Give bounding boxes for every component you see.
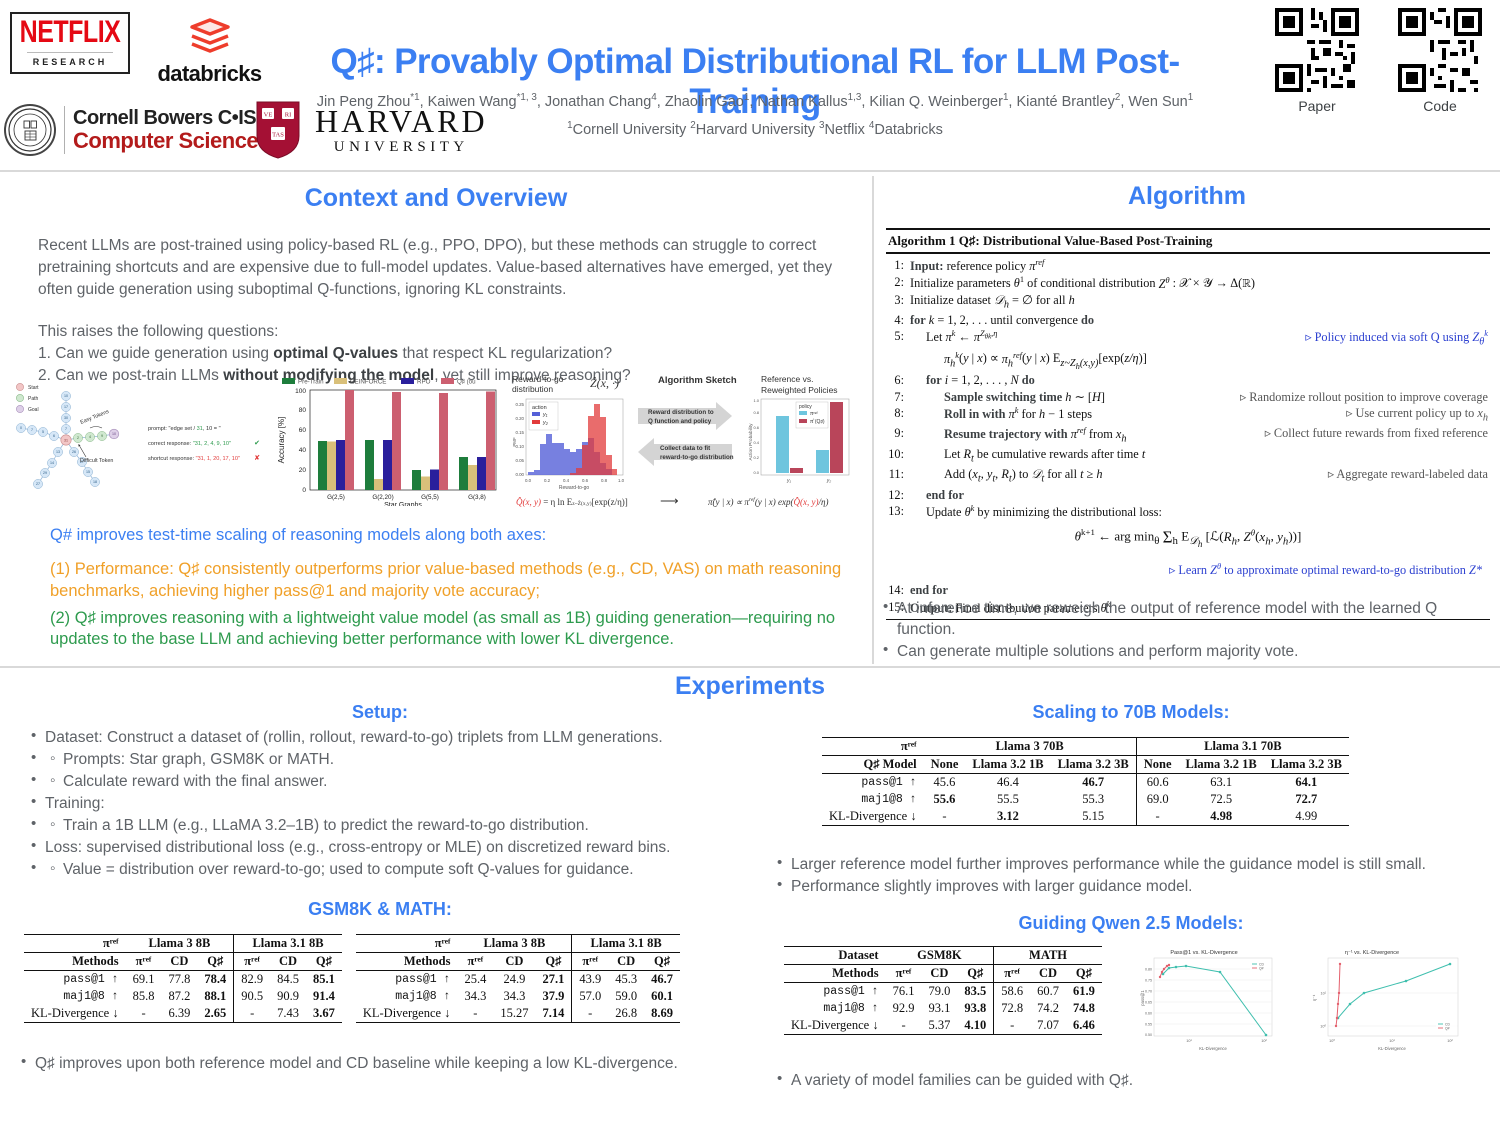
- col-header: πʳᵉᶠ: [994, 965, 1030, 983]
- cornell-bowers-label: Cornell Bowers C•IS: [73, 108, 258, 129]
- table-corner-header: πʳᵉᶠ: [356, 934, 458, 952]
- methods-header: Methods: [24, 952, 126, 970]
- poster-root: NETFLIX RESEARCH databricks: [0, 0, 1500, 1125]
- gsm8k-math-bullets: Q♯ improves upon both reference model an…: [18, 1053, 748, 1074]
- svg-text:2: 2: [77, 436, 79, 440]
- star-graph-accuracy-chart: Pre-Train REINFORCE RPO Q♯ (ou 02040 608…: [270, 374, 505, 506]
- cornell-wordmark: Cornell Bowers C•IS Computer Science: [73, 108, 258, 152]
- methods-header: Methods: [356, 952, 458, 970]
- svg-text:1.0: 1.0: [618, 478, 625, 483]
- col-header: CD: [608, 952, 644, 970]
- svg-text:Algorithm Sketch: Algorithm Sketch: [658, 375, 737, 386]
- algorithm-box: Algorithm 1 Q♯: Distributional Value-Bas…: [886, 228, 1490, 620]
- col-header: Q♯: [1066, 965, 1102, 983]
- svg-text:0.05: 0.05: [515, 458, 524, 463]
- algorithm-equation: θk+1 ← arg minθ Σh E𝒟h [ℒ(Rh, Zθ(xh, yh)…: [886, 520, 1490, 554]
- list-item: ◦Value = distribution over reward-to-go;…: [28, 859, 748, 880]
- methods-header: Methods: [784, 965, 886, 983]
- svg-text:10: 10: [64, 394, 68, 398]
- svg-text:Q#: Q#: [1445, 1026, 1450, 1030]
- table-row: KL-Divergence ↓ - 6.39 2.65 - 7.43 3.67: [24, 1005, 342, 1023]
- algorithm-equation-note: ▹ Learn Zθ to approximate optimal reward…: [886, 554, 1490, 582]
- svg-text:Q♯ (ou: Q♯ (ou: [457, 378, 476, 385]
- svg-text:0.4: 0.4: [563, 478, 570, 483]
- svg-text:y₁: y₁: [542, 412, 548, 418]
- svg-text:y₁: y₁: [786, 478, 792, 484]
- svg-text:PMF: PMF: [512, 437, 517, 447]
- qr-paper-block[interactable]: Paper: [1275, 8, 1359, 114]
- table-row: KL-Divergence ↓ - 5.37 4.10 - 7.07 6.46: [784, 1017, 1102, 1035]
- experiments-heading: Experiments: [0, 672, 1500, 701]
- affiliation-list: 1Cornell University 2Harvard University …: [255, 120, 1255, 138]
- qr-code-icon[interactable]: [1398, 8, 1482, 92]
- svg-text:Star Graphs: Star Graphs: [384, 502, 422, 506]
- svg-text:6: 6: [53, 434, 55, 438]
- qwen-table: Dataset GSM8K MATH Methods πʳᵉᶠ CD Q♯ πʳ…: [784, 946, 1102, 1035]
- col-header: CD: [1030, 965, 1066, 983]
- list-item: Can generate multiple solutions and perf…: [880, 641, 1494, 662]
- shortcut-response-text: shortcut response: "31, 1, 20, 17, 10": [148, 456, 240, 462]
- svg-text:0.25: 0.25: [515, 402, 524, 407]
- scaling-70b-heading: Scaling to 70B Models:: [762, 702, 1500, 723]
- difficult-token-label: Difficult Token: [80, 458, 113, 464]
- svg-text:0.20: 0.20: [515, 416, 524, 421]
- svg-text:reward-to-go distribution: reward-to-go distribution: [660, 454, 734, 461]
- svg-text:Reward-to-go: Reward-to-go: [559, 485, 590, 491]
- scaling-70b-table: πʳᵉᶠ Llama 3 70B Llama 3.1 70B Q♯ Model …: [822, 737, 1349, 826]
- svg-text:10¹: 10¹: [1186, 1039, 1192, 1043]
- algorithm-lines: 1:Input: reference policy πref 2:Initial…: [886, 254, 1490, 619]
- col-header: None: [924, 756, 966, 774]
- svg-text:Start: Start: [28, 385, 39, 391]
- setup-list: Dataset: Construct a dataset of (rollin,…: [28, 727, 748, 881]
- svg-text:30: 30: [64, 416, 68, 420]
- svg-text:policy: policy: [799, 404, 812, 410]
- col-header: πʳᵉᶠ: [234, 952, 270, 970]
- svg-text:5: 5: [42, 430, 44, 434]
- svg-text:0.4: 0.4: [753, 440, 759, 445]
- svg-text:Q#: Q#: [1259, 966, 1264, 970]
- svg-text:18: 18: [93, 480, 97, 484]
- qwen-bullets: A variety of model families can be guide…: [774, 1070, 1488, 1091]
- algorithm-section: Algorithm Algorithm 1 Q♯: Distributional…: [874, 174, 1500, 666]
- svg-text:η⁻¹: η⁻¹: [1312, 994, 1317, 1001]
- gsm8k-math-heading: GSM8K & MATH:: [0, 899, 760, 920]
- col-header: πʳᵉᶠ: [572, 952, 608, 970]
- gsm8k-table: πʳᵉᶠ Llama 3 8B Llama 3.1 8B Methods πʳᵉ…: [24, 934, 342, 1023]
- overview-figure-row: Start Path Goal 31 7 30 17: [8, 374, 872, 519]
- svg-text:G(5,5): G(5,5): [421, 494, 439, 501]
- algorithm-box-title: Algorithm 1 Q♯: Distributional Value-Bas…: [886, 230, 1490, 252]
- qr-paper-icon[interactable]: [1275, 8, 1359, 92]
- svg-text:1.0: 1.0: [753, 398, 759, 403]
- easy-tokens-label: Easy Tokens: [80, 409, 111, 426]
- correct-check-icon: ✔: [254, 440, 260, 447]
- table-group-header: Llama 3.1 8B: [234, 934, 342, 952]
- cornell-seal-icon: [4, 104, 56, 156]
- svg-text:Q̂(x, y) = η ln Ez~Ẑ(x,y)[exp(: Q̂(x, y) = η ln Ez~Ẑ(x,y)[exp(z/η)]: [516, 496, 628, 507]
- context-section: Context and Overview Recent LLMs are pos…: [0, 174, 872, 666]
- svg-text:9: 9: [101, 434, 103, 438]
- svg-text:0.80: 0.80: [1145, 968, 1152, 972]
- svg-text:10²: 10²: [1447, 1039, 1453, 1043]
- list-item: Performance slightly improves with large…: [774, 876, 1488, 897]
- svg-text:17: 17: [64, 405, 68, 409]
- databricks-mark-icon: [188, 18, 232, 58]
- list-item: Loss: supervised distributional loss (e.…: [28, 837, 748, 858]
- experiments-left-column: Setup: Dataset: Construct a dataset of (…: [0, 702, 760, 1075]
- poster-title: Q♯: Provably Optimal Distributional RL f…: [265, 42, 1245, 122]
- scaling-70b-table-wrap: πʳᵉᶠ Llama 3 70B Llama 3.1 70B Q♯ Model …: [762, 737, 1500, 826]
- claim-lightweight: (2) Q♯ improves reasoning with a lightwe…: [50, 608, 870, 652]
- table-group-header: Llama 3 8B: [457, 934, 571, 952]
- experiments-right-column: Scaling to 70B Models: πʳᵉᶠ Llama 3 70B …: [762, 702, 1500, 1092]
- svg-text:10⁰: 10⁰: [1329, 1039, 1335, 1043]
- svg-text:Reward distribution to: Reward distribution to: [648, 409, 714, 416]
- qr-code-block[interactable]: Code: [1398, 8, 1482, 114]
- svg-text:10¹: 10¹: [1320, 992, 1326, 996]
- svg-text:10²: 10²: [1261, 1039, 1267, 1043]
- col-header: Q♯: [957, 965, 993, 983]
- svg-text:40: 40: [299, 447, 307, 454]
- experiments-divider: [0, 666, 1500, 668]
- svg-text:31: 31: [64, 438, 68, 442]
- claim-performance: (1) Performance: Q♯ consistently outperf…: [50, 559, 870, 603]
- shortcut-cross-icon: ✘: [254, 454, 260, 462]
- col-header: Q♯: [306, 952, 342, 970]
- harvard-university-label: UNIVERSITY: [315, 140, 488, 155]
- table-group-header: Llama 3.1 8B: [572, 934, 680, 952]
- list-item: Training:: [28, 793, 748, 814]
- list-item: ◦Calculate reward with the final answer.: [28, 771, 748, 792]
- col-header: Llama 3.2 3B: [1264, 756, 1349, 774]
- claim-heading: Q# improves test-time scaling of reasoni…: [50, 526, 870, 545]
- svg-text:π̂(y | x) ∝ πref(y | x) exp(Q̂: π̂(y | x) ∝ πref(y | x) exp(Q̂(x, y)/η): [708, 496, 828, 507]
- svg-text:⟶: ⟶: [660, 493, 679, 508]
- svg-text:Ẑ(x, ·): Ẑ(x, ·): [590, 376, 619, 390]
- table-row: maj1@8 ↑ 85.8 87.2 88.1 90.5 90.9 91.4: [24, 988, 342, 1005]
- svg-text:G(3,8): G(3,8): [468, 494, 486, 501]
- col-header: Llama 3.2 1B: [965, 756, 1050, 774]
- netflix-wordmark: NETFLIX: [20, 16, 121, 47]
- svg-text:0.6: 0.6: [582, 478, 589, 483]
- svg-text:G(2,5): G(2,5): [327, 494, 345, 501]
- svg-text:Reward-to-go: Reward-to-go: [512, 374, 564, 384]
- svg-text:G(2,20): G(2,20): [372, 494, 393, 501]
- svg-text:η⁻¹ vs. KL-Divergence: η⁻¹ vs. KL-Divergence: [1345, 950, 1399, 956]
- svg-text:y₂: y₂: [542, 420, 549, 426]
- databricks-wordmark: databricks: [152, 61, 267, 87]
- svg-text:action: action: [532, 405, 547, 411]
- svg-text:REINFORCE: REINFORCE: [350, 378, 386, 385]
- question-1: 1. Can we guide generation using optimal…: [38, 343, 872, 365]
- list-item: Dataset: Construct a dataset of (rollin,…: [28, 727, 748, 748]
- list-item: A variety of model families can be guide…: [774, 1070, 1488, 1091]
- list-item: At inference time, we reweigh the output…: [880, 598, 1494, 640]
- table-row: maj1@8 ↑ 34.3 34.3 37.9 57.0 59.0 60.1: [356, 988, 680, 1005]
- svg-text:7: 7: [65, 427, 67, 431]
- gsm8k-math-tables: πʳᵉᶠ Llama 3 8B Llama 3.1 8B Methods πʳᵉ…: [0, 934, 760, 1023]
- svg-text:Goal: Goal: [28, 407, 39, 413]
- qwen-heading: Guiding Qwen 2.5 Models:: [762, 913, 1500, 934]
- col-header: CD: [921, 965, 957, 983]
- svg-text:29: 29: [43, 471, 47, 475]
- table-row: pass@1 ↑ 45.6 46.4 46.7 60.6 63.1 64.1: [822, 774, 1349, 792]
- svg-text:RPO: RPO: [417, 378, 431, 385]
- context-paragraph: Recent LLMs are post-trained using polic…: [38, 235, 834, 301]
- svg-text:Pass@1 vs. KL-Divergence: Pass@1 vs. KL-Divergence: [1170, 950, 1237, 956]
- cornell-logo-divider: [64, 106, 65, 154]
- svg-text:πʳᵉᶠ: πʳᵉᶠ: [810, 411, 819, 417]
- svg-text:0: 0: [20, 426, 22, 430]
- svg-text:80: 80: [299, 407, 307, 414]
- svg-text:Reweighted Policies: Reweighted Policies: [761, 385, 838, 395]
- table-group-header: Llama 3 8B: [126, 934, 234, 952]
- col-header: πʳᵉᶠ: [886, 965, 922, 983]
- poster-header: NETFLIX RESEARCH databricks: [0, 0, 1500, 172]
- svg-text:0.65: 0.65: [1145, 1001, 1152, 1005]
- svg-text:0.50: 0.50: [1145, 1033, 1152, 1037]
- svg-text:y₂: y₂: [826, 478, 832, 484]
- svg-text:pass@1: pass@1: [1140, 990, 1145, 1006]
- svg-text:distribution: distribution: [512, 384, 553, 394]
- svg-text:0.60: 0.60: [1145, 1012, 1152, 1016]
- table-row: pass@1 ↑ 25.4 24.9 27.1 43.9 45.3 46.7: [356, 970, 680, 988]
- svg-text:π̂ (Q♯): π̂ (Q♯): [810, 419, 825, 425]
- svg-text:15: 15: [86, 470, 90, 474]
- table-row: KL-Divergence ↓ - 15.27 7.14 - 26.8 8.69: [356, 1005, 680, 1023]
- math-table: πʳᵉᶠ Llama 3 8B Llama 3.1 8B Methods πʳᵉ…: [356, 934, 680, 1023]
- qwen-content-row: Dataset GSM8K MATH Methods πʳᵉᶠ CD Q♯ πʳ…: [762, 946, 1500, 1054]
- svg-text:Accuracy [%]: Accuracy [%]: [277, 417, 286, 464]
- table-corner-header: πʳᵉᶠ: [24, 934, 126, 952]
- model-header: Q♯ Model: [822, 756, 924, 774]
- svg-text:0.6: 0.6: [753, 425, 759, 430]
- svg-text:Collect data to fit: Collect data to fit: [660, 445, 710, 452]
- setup-heading: Setup:: [0, 702, 760, 723]
- svg-text:KL-Divergence: KL-Divergence: [1199, 1046, 1227, 1051]
- col-header: Q♯: [644, 952, 680, 970]
- svg-text:14: 14: [50, 461, 54, 465]
- list-item: ◦Train a 1B LLM (e.g., LLaMA 3.2–1B) to …: [28, 815, 748, 836]
- svg-text:0.2: 0.2: [753, 455, 759, 460]
- svg-text:0.0: 0.0: [525, 478, 532, 483]
- svg-text:Path: Path: [28, 396, 39, 402]
- table-row: maj1@8 ↑ 55.6 55.5 55.3 69.0 72.5 72.7: [822, 791, 1349, 808]
- col-header: Llama 3.2 1B: [1179, 756, 1264, 774]
- svg-text:0.70: 0.70: [1145, 990, 1152, 994]
- col-header: CD: [493, 952, 535, 970]
- qwen-tradeoff-plots: Pass@1 vs. KL-Divergence 0.800.750.70 0.…: [1116, 946, 1476, 1054]
- qr-code-label: Code: [1423, 98, 1456, 114]
- col-header: πʳᵉᶠ: [457, 952, 493, 970]
- svg-text:Action Probability: Action Probability: [748, 423, 754, 461]
- svg-text:KL-Divergence: KL-Divergence: [1378, 1046, 1406, 1051]
- svg-text:100: 100: [295, 388, 306, 395]
- context-heading: Context and Overview: [0, 184, 872, 213]
- svg-text:20: 20: [299, 467, 307, 474]
- table-group-header: MATH: [994, 947, 1102, 965]
- svg-text:26: 26: [72, 450, 76, 454]
- table-row: pass@1 ↑ 69.1 77.8 78.4 82.9 84.5 85.1: [24, 970, 342, 988]
- list-item: Q♯ improves upon both reference model an…: [18, 1053, 748, 1074]
- algorithm-heading: Algorithm: [874, 182, 1500, 211]
- svg-text:0.2: 0.2: [544, 478, 551, 483]
- svg-text:0.15: 0.15: [515, 430, 524, 435]
- netflix-research-label: RESEARCH: [33, 57, 108, 67]
- qr-paper-label: Paper: [1298, 98, 1335, 114]
- prompt-text: prompt: "edge set / 31, 10 = ": [148, 426, 221, 432]
- svg-text:27: 27: [36, 482, 40, 486]
- col-header: None: [1136, 756, 1178, 774]
- col-header: CD: [161, 952, 197, 970]
- svg-text:13: 13: [56, 450, 60, 454]
- col-header: CD: [270, 952, 306, 970]
- table-row: maj1@8 ↑ 92.9 93.1 93.8 72.8 74.2 74.8: [784, 1000, 1102, 1017]
- table-group-header: Llama 3.1 70B: [1136, 738, 1349, 756]
- algorithm-sketch-figure: Reward-to-godistribution Ẑ(x, ·) Algorit…: [508, 372, 878, 512]
- netflix-research-logo: NETFLIX RESEARCH: [10, 12, 130, 74]
- svg-text:4: 4: [89, 435, 91, 439]
- table-group-header: Llama 3 70B: [924, 738, 1137, 756]
- table-row: pass@1 ↑ 76.1 79.0 83.5 58.6 60.7 61.9: [784, 983, 1102, 1001]
- cornell-cs-label: Computer Science: [73, 129, 258, 152]
- svg-text:0.00: 0.00: [515, 472, 524, 477]
- netflix-divider: [27, 52, 113, 53]
- star-graph-figure: Start Path Goal 31 7 30 17: [8, 374, 270, 504]
- list-item: Larger reference model further improves …: [774, 854, 1488, 875]
- cornell-logo: Cornell Bowers C•IS Computer Science: [4, 104, 258, 156]
- svg-text:10: 10: [112, 432, 116, 436]
- questions-lead: This raises the following questions:: [38, 321, 872, 343]
- table-group-header: GSM8K: [886, 947, 994, 965]
- databricks-logo: databricks: [152, 18, 267, 87]
- svg-text:0.8: 0.8: [753, 410, 759, 415]
- svg-text:10⁰: 10⁰: [1320, 1025, 1326, 1029]
- svg-text:Pre-Train: Pre-Train: [298, 378, 324, 385]
- table-row: KL-Divergence ↓ - 3.12 5.15 - 4.98 4.99: [822, 808, 1349, 826]
- svg-text:0.0: 0.0: [753, 470, 759, 475]
- svg-text:0: 0: [302, 487, 306, 494]
- svg-text:0.8: 0.8: [601, 478, 608, 483]
- col-header: Q♯: [535, 952, 571, 970]
- col-header: Llama 3.2 3B: [1051, 756, 1137, 774]
- col-header: πʳᵉᶠ: [126, 952, 162, 970]
- table-corner-header: Dataset: [784, 947, 886, 965]
- svg-text:60: 60: [299, 427, 307, 434]
- scaling-70b-bullets: Larger reference model further improves …: [774, 854, 1488, 897]
- algorithm-bullets: At inference time, we reweigh the output…: [880, 598, 1494, 663]
- list-item: ◦Prompts: Star graph, GSM8K or MATH.: [28, 749, 748, 770]
- svg-text:Q function and policy: Q function and policy: [648, 418, 712, 425]
- author-list: Jin Peng Zhou*1, Kaiwen Wang*1, 3, Jonat…: [255, 92, 1255, 110]
- svg-text:Reference vs.: Reference vs.: [761, 374, 813, 384]
- col-header: Q♯: [197, 952, 233, 970]
- correct-response-text: correct response: "31, 2, 4, 9, 10": [148, 441, 231, 447]
- svg-text:0.55: 0.55: [1145, 1023, 1152, 1027]
- table-corner-header: πʳᵉᶠ: [822, 738, 924, 756]
- svg-text:0.75: 0.75: [1145, 979, 1152, 983]
- svg-text:10¹: 10¹: [1389, 1039, 1395, 1043]
- svg-text:7: 7: [31, 428, 33, 432]
